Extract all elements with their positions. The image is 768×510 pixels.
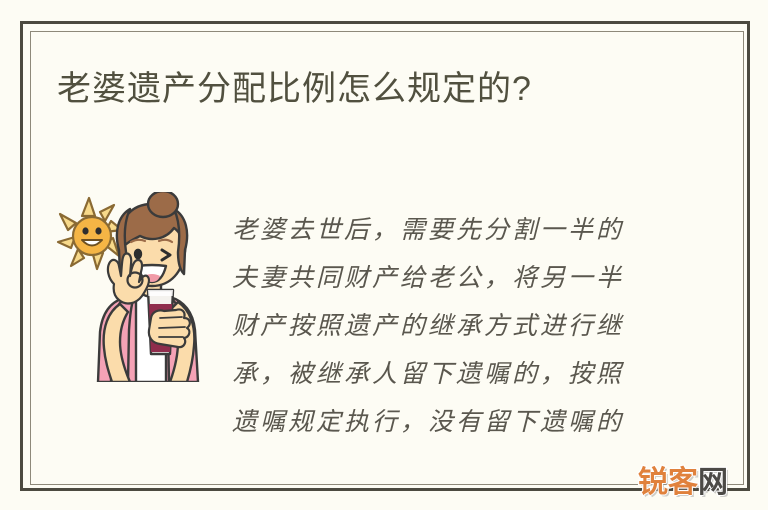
site-watermark: 锐客网 bbox=[638, 466, 728, 500]
body-line: 老婆去世后，需要先分割一半的 bbox=[232, 206, 652, 254]
page-title: 老婆遗产分配比例怎么规定的? bbox=[57, 63, 697, 115]
holding-hand bbox=[149, 309, 190, 347]
article-page: 老婆遗产分配比例怎么规定的? bbox=[0, 0, 768, 510]
body-line: 夫妻共同财产给老公，将另一半 bbox=[232, 254, 652, 302]
watermark-text-primary: 锐客 bbox=[638, 465, 698, 500]
sun-icon bbox=[58, 198, 122, 269]
woman-with-drink-and-sun-illustration bbox=[56, 192, 228, 382]
body-line: 遗嘱规定执行，没有留下遗嘱的 bbox=[232, 398, 652, 446]
body-line: 承，被继承人留下遗嘱的，按照 bbox=[232, 350, 652, 398]
body-line: 财产按照遗产的继承方式进行继 bbox=[232, 302, 652, 350]
article-body: 老婆去世后，需要先分割一半的 夫妻共同财产给老公，将另一半 财产按照遗产的继承方… bbox=[232, 206, 652, 446]
watermark-text-secondary: 网 bbox=[698, 465, 728, 500]
